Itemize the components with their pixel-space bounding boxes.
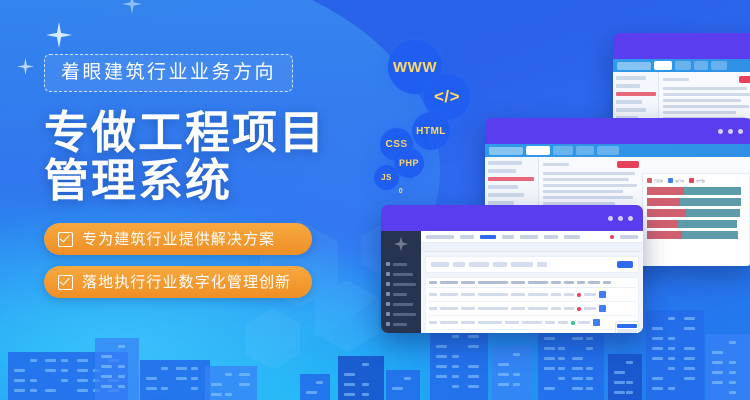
window-dot[interactable] <box>628 216 633 221</box>
tab-item[interactable] <box>711 61 727 70</box>
building-window <box>30 389 37 392</box>
building-window <box>513 383 520 386</box>
filter-select[interactable] <box>469 262 489 267</box>
building-silhouette <box>300 374 330 400</box>
marketing-copy: 着眼建筑行业业务方向 专做工程项目 管理系统 专为建筑行业提供解决方案 落地执行… <box>44 54 344 309</box>
building-window <box>668 387 675 390</box>
window-dot[interactable] <box>618 216 623 221</box>
building-window <box>729 361 736 364</box>
sidebar-nav-item[interactable] <box>381 299 421 309</box>
building-window <box>558 367 565 370</box>
building-window <box>614 381 625 384</box>
feature-pill-2-label: 落地执行行业数字化管理创新 <box>82 275 291 290</box>
sidebar-item-label <box>393 283 416 286</box>
building-window <box>146 387 157 390</box>
status-badge <box>577 293 581 297</box>
sidebar-item-icon <box>386 282 390 286</box>
building-window <box>652 357 663 360</box>
window-titlebar <box>485 118 750 144</box>
sidebar-nav-item[interactable] <box>381 309 421 319</box>
building-window <box>101 355 112 358</box>
building-window <box>452 355 459 358</box>
building-window <box>362 383 369 386</box>
app-header-bar <box>485 144 750 157</box>
building-window <box>108 389 119 392</box>
building-window <box>118 345 125 348</box>
building-window <box>729 381 736 384</box>
sidebar-row[interactable] <box>488 185 518 189</box>
building-window <box>101 385 112 388</box>
window-body <box>381 231 643 333</box>
building-window <box>101 375 112 378</box>
sidebar-item-icon <box>386 292 390 296</box>
building-window <box>225 393 232 396</box>
headline-line-2: 管理系统 <box>44 157 344 205</box>
building-window <box>652 337 663 340</box>
building-window <box>344 383 355 386</box>
building-window <box>61 359 68 362</box>
building-window <box>498 363 509 366</box>
building-window <box>14 369 25 372</box>
notification-badge[interactable] <box>610 235 614 239</box>
filter-input[interactable] <box>511 262 533 267</box>
checkbox-checked-icon <box>58 232 73 247</box>
building-window <box>468 375 479 378</box>
app-main-area <box>421 231 643 333</box>
building-window <box>344 393 355 396</box>
building-window <box>668 317 675 320</box>
field-label <box>543 163 569 166</box>
sidebar-row[interactable] <box>488 193 524 197</box>
building-window <box>498 373 509 376</box>
building-window <box>586 347 593 350</box>
window-titlebar <box>381 205 643 231</box>
app-content <box>381 231 643 333</box>
building-window <box>586 387 593 390</box>
building-window <box>191 387 198 390</box>
sidebar-item-label <box>393 313 416 316</box>
building-window <box>468 345 479 348</box>
building-window <box>668 357 675 360</box>
breadcrumb <box>421 243 643 252</box>
nav-item[interactable] <box>502 235 514 239</box>
table-header-row <box>429 281 635 288</box>
building-window <box>306 391 317 394</box>
sidebar-item-icon <box>386 272 390 276</box>
building-window <box>729 391 736 394</box>
building-window <box>404 377 411 380</box>
row-action-icon[interactable] <box>599 305 606 312</box>
dropdown-item[interactable] <box>617 329 637 333</box>
window-dot[interactable] <box>728 129 733 134</box>
sidebar-nav-item[interactable] <box>381 259 421 269</box>
building-window <box>558 377 565 380</box>
building-window <box>712 351 723 354</box>
sidebar-item-icon <box>386 322 390 326</box>
building-window <box>544 347 555 350</box>
building-window <box>118 365 125 368</box>
building-window <box>93 379 100 382</box>
chart-bar <box>647 198 745 206</box>
tab-item[interactable] <box>597 146 619 155</box>
building-window <box>118 375 125 378</box>
building-window <box>77 359 88 362</box>
building-window <box>572 387 583 390</box>
sidebar-nav-item[interactable] <box>381 279 421 289</box>
checkbox-checked-icon <box>58 275 73 290</box>
nav-item[interactable] <box>544 235 558 239</box>
window-dot[interactable] <box>718 129 723 134</box>
building-window <box>30 359 37 362</box>
building-window <box>101 365 112 368</box>
tab-item[interactable] <box>694 61 708 70</box>
primary-action-button[interactable] <box>739 76 750 83</box>
table-row[interactable] <box>429 330 635 333</box>
building-window <box>14 389 25 392</box>
sidebar-nav-item[interactable] <box>381 269 421 279</box>
building-silhouette <box>205 366 257 400</box>
building-window <box>544 337 555 340</box>
building-window <box>225 373 232 376</box>
dropdown-menu[interactable] <box>615 321 639 333</box>
status-badge <box>571 321 575 325</box>
building-window <box>712 361 723 364</box>
building-window <box>191 367 198 370</box>
window-titlebar <box>613 33 750 59</box>
chart-bar <box>647 187 745 195</box>
headline-line-1: 专做工程项目 <box>44 109 344 157</box>
building-window <box>211 393 222 396</box>
building-window <box>513 373 520 376</box>
feature-pill-1-label: 专为建筑行业提供解决方案 <box>82 232 275 247</box>
nav-brand <box>426 235 454 239</box>
chart-legend: 已完成 进行中 未开始 <box>647 178 745 183</box>
building-window <box>45 389 56 392</box>
building-window <box>498 383 509 386</box>
tab-item[interactable] <box>553 146 573 155</box>
building-window <box>436 355 447 358</box>
building-window <box>544 357 555 360</box>
sidebar-row[interactable] <box>616 76 646 80</box>
building-window <box>684 367 695 370</box>
nav-item[interactable] <box>460 235 474 239</box>
sparkle-faint-icon <box>122 0 142 14</box>
building-window <box>211 383 222 386</box>
sidebar-row-selected[interactable] <box>488 177 534 181</box>
building-window <box>558 357 565 360</box>
sidebar-item-label <box>393 273 413 276</box>
sidebar-row[interactable] <box>488 169 516 173</box>
building-window <box>146 377 157 380</box>
building-silhouette <box>8 352 128 400</box>
filter-toolbar <box>425 256 639 273</box>
building-window <box>586 337 593 340</box>
building-window <box>513 353 520 356</box>
building-window <box>729 371 736 374</box>
tab-item[interactable] <box>675 61 691 70</box>
status-badge <box>577 307 581 311</box>
building-window <box>468 335 479 338</box>
bubble-zero: 0 <box>392 182 410 200</box>
building-window <box>652 327 663 330</box>
window-dot[interactable] <box>608 216 613 221</box>
building-window <box>436 375 447 378</box>
feature-pill-2[interactable]: 落地执行行业数字化管理创新 <box>44 266 312 298</box>
sidebar-nav-item[interactable] <box>381 319 421 329</box>
sidebar-item-icon <box>386 312 390 316</box>
building-window <box>684 377 695 380</box>
building-window <box>668 337 675 340</box>
building-window <box>77 369 88 372</box>
feature-pill-1[interactable]: 专为建筑行业提供解决方案 <box>44 223 312 255</box>
building-window <box>392 387 403 390</box>
row-action-icon[interactable] <box>599 291 606 298</box>
nav-item[interactable] <box>564 235 580 239</box>
building-window <box>668 347 675 350</box>
sidebar-row-selected[interactable] <box>616 92 656 96</box>
building-window <box>468 365 479 368</box>
field-label <box>663 78 689 81</box>
app-window-front[interactable] <box>381 205 643 333</box>
search-button[interactable] <box>617 261 633 268</box>
building-silhouette <box>386 370 420 400</box>
building-window <box>652 377 663 380</box>
building-window <box>108 359 119 362</box>
sidebar-item-icon <box>386 302 390 306</box>
chart-bar <box>647 209 745 217</box>
app-sidebar-dark[interactable] <box>381 231 421 333</box>
bubble-html: HTML <box>412 112 450 150</box>
building-window <box>452 335 459 338</box>
data-table <box>425 277 639 333</box>
building-window <box>544 367 555 370</box>
building-window <box>61 369 68 372</box>
legend-item: 进行中 <box>668 178 684 183</box>
building-window <box>652 347 663 350</box>
building-window <box>93 369 100 372</box>
app-logo-icon <box>394 237 408 251</box>
building-window <box>45 359 56 362</box>
tab-active[interactable] <box>526 146 550 155</box>
filter-select[interactable] <box>537 262 547 267</box>
sparkle-small-icon <box>17 58 34 75</box>
sidebar-row[interactable] <box>616 100 642 104</box>
building-window <box>362 393 369 396</box>
tab-item[interactable] <box>576 146 594 155</box>
building-window <box>77 379 88 382</box>
eyebrow-tagline: 着眼建筑行业业务方向 <box>44 54 293 92</box>
building-window <box>77 389 88 392</box>
sidebar-item-label <box>393 263 407 266</box>
building-window <box>161 387 168 390</box>
building-window <box>436 345 447 348</box>
table-row[interactable] <box>429 302 635 316</box>
sidebar-item-icon <box>386 262 390 266</box>
filter-select[interactable] <box>493 262 507 267</box>
building-window <box>161 367 168 370</box>
filter-label <box>431 262 449 267</box>
building-window <box>684 327 695 330</box>
building-silhouette <box>706 334 750 400</box>
building-window <box>191 377 198 380</box>
building-window <box>558 347 565 350</box>
app-header-bar <box>613 59 750 72</box>
legend-item: 已完成 <box>647 178 663 183</box>
building-window <box>586 367 593 370</box>
chart-bar <box>647 220 745 228</box>
building-window <box>176 367 187 370</box>
sidebar-item-label <box>393 303 413 306</box>
building-window <box>572 337 583 340</box>
building-window <box>712 371 723 374</box>
building-window <box>118 385 125 388</box>
building-silhouette <box>140 360 210 400</box>
building-silhouette <box>492 346 532 400</box>
building-window <box>436 365 447 368</box>
building-window <box>652 387 663 390</box>
building-window <box>452 365 459 368</box>
building-window <box>712 381 723 384</box>
page-title: 专做工程项目 管理系统 <box>44 109 344 205</box>
feature-pill-list: 专为建筑行业提供解决方案 落地执行行业数字化管理创新 <box>44 223 344 298</box>
legend-item: 未开始 <box>689 178 705 183</box>
building-silhouette <box>646 310 704 400</box>
building-silhouette <box>338 356 384 400</box>
app-top-nav <box>421 231 643 243</box>
building-window <box>544 387 555 390</box>
building-window <box>14 379 25 382</box>
building-window <box>93 389 100 392</box>
sparkle-large-icon <box>46 22 72 48</box>
building-window <box>572 377 583 380</box>
user-menu[interactable] <box>620 235 638 239</box>
sidebar-row[interactable] <box>616 108 646 112</box>
bar-chart: 已完成 进行中 未开始 <box>642 173 750 266</box>
sidebar-nav-item[interactable] <box>381 289 421 299</box>
building-window <box>176 377 187 380</box>
building-window <box>30 379 37 382</box>
building-window <box>684 317 695 320</box>
building-window <box>108 379 119 382</box>
promo-banner: 着眼建筑行业业务方向 专做工程项目 管理系统 专为建筑行业提供解决方案 落地执行… <box>0 0 750 400</box>
window-dot[interactable] <box>738 129 743 134</box>
building-window <box>239 383 250 386</box>
nav-item[interactable] <box>520 235 538 239</box>
building-window <box>572 357 583 360</box>
building-silhouette <box>430 328 488 400</box>
nav-item-active[interactable] <box>480 235 496 239</box>
building-window <box>626 391 633 394</box>
building-window <box>626 361 633 364</box>
building-window <box>614 391 625 394</box>
building-window <box>626 381 633 384</box>
building-window <box>452 385 459 388</box>
building-window <box>239 373 250 376</box>
tab-active[interactable] <box>654 61 672 70</box>
filter-select[interactable] <box>453 262 465 267</box>
building-window <box>362 363 369 366</box>
hexagon-shape <box>246 308 301 370</box>
building-window <box>668 367 675 370</box>
building-window <box>61 379 68 382</box>
dropdown-item-active[interactable] <box>617 324 637 328</box>
building-silhouette <box>95 338 139 400</box>
building-window <box>684 347 695 350</box>
primary-action-button[interactable] <box>617 161 639 168</box>
sidebar-item-label <box>393 293 407 296</box>
sidebar-row[interactable] <box>488 161 522 165</box>
building-silhouette <box>608 354 642 400</box>
app-logo <box>489 147 523 155</box>
building-window <box>468 385 479 388</box>
building-window <box>45 369 56 372</box>
building-window <box>572 367 583 370</box>
table-row[interactable] <box>429 288 635 302</box>
app-logo <box>617 62 651 70</box>
building-window <box>614 371 625 374</box>
building-window <box>729 341 736 344</box>
building-window <box>452 375 459 378</box>
building-window <box>586 377 593 380</box>
building-window <box>684 357 695 360</box>
row-action-icon[interactable] <box>593 319 600 326</box>
building-window <box>344 373 355 376</box>
sidebar-row[interactable] <box>616 84 640 88</box>
building-window <box>316 381 323 384</box>
table-row[interactable] <box>429 316 635 330</box>
chart-bar <box>647 231 745 239</box>
sidebar-item-label <box>393 323 407 326</box>
